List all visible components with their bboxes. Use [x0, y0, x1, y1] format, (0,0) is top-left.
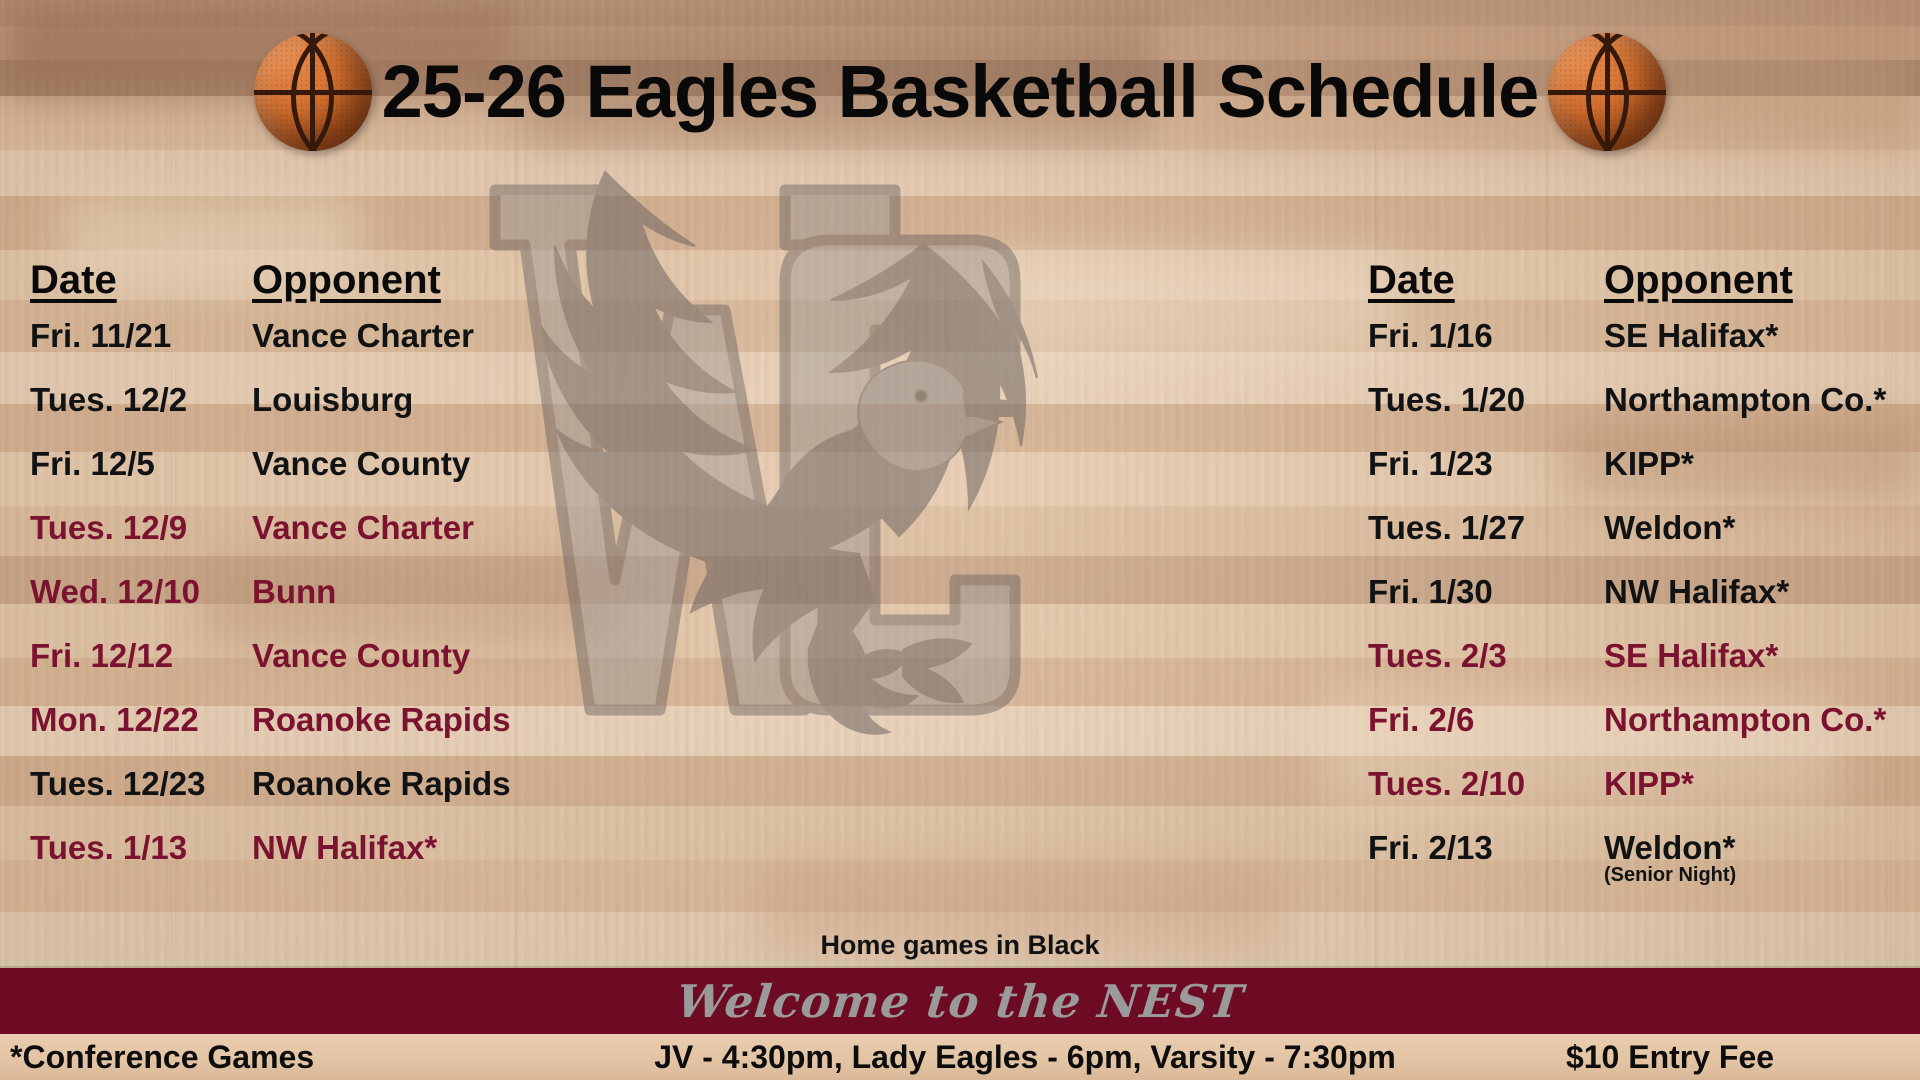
opponent-column-header: Opponent	[252, 258, 650, 303]
game-date: Fri. 12/12	[30, 639, 252, 674]
game-date: Tues. 1/20	[1368, 383, 1604, 418]
table-row: Tues. 12/2 Louisburg	[30, 383, 650, 447]
game-opponent: Northampton Co.*	[1604, 703, 1920, 738]
home-games-note: Home games in Black	[0, 930, 1920, 961]
schedule-column-left: Date Opponent Fri. 11/21 Vance Charter T…	[30, 258, 650, 895]
game-date: Mon. 12/22	[30, 703, 252, 738]
page-title-bar: 25-26 Eagles Basketball Schedule	[0, 22, 1920, 162]
table-row: Fri. 1/23 KIPP*	[1368, 447, 1920, 511]
game-opponent: Vance County	[252, 447, 650, 482]
senior-night-note: (Senior Night)	[1604, 864, 1920, 887]
game-date: Tues. 12/2	[30, 383, 252, 418]
date-column-header: Date	[1368, 258, 1604, 303]
footer-middle: JV - 4:30pm, Lady Eagles - 6pm, Varsity …	[630, 1039, 1420, 1076]
conference-games-note: *Conference Games	[10, 1039, 314, 1075]
game-opponent: SE Halifax*	[1604, 319, 1920, 354]
game-opponent: Northampton Co.*	[1604, 383, 1920, 418]
footer-bar: *Conference Games JV - 4:30pm, Lady Eagl…	[0, 1034, 1920, 1080]
basketball-icon-left	[254, 33, 372, 151]
game-date: Tues. 1/13	[30, 831, 252, 866]
schedule-header-right: Date Opponent	[1368, 258, 1920, 303]
schedule-header-left: Date Opponent	[30, 258, 650, 303]
game-opponent: SE Halifax*	[1604, 639, 1920, 674]
table-row: Tues. 1/27 Weldon*	[1368, 511, 1920, 575]
footer-right: $10 Entry Fee	[1420, 1039, 1920, 1076]
game-opponent: Weldon* (Senior Night)	[1604, 831, 1920, 887]
game-opponent: Weldon*	[1604, 511, 1920, 546]
game-opponent: KIPP*	[1604, 767, 1920, 802]
page-title: 25-26 Eagles Basketball Schedule	[382, 55, 1539, 129]
schedule-column-right: Date Opponent Fri. 1/16 SE Halifax* Tues…	[1368, 258, 1920, 895]
game-opponent: Vance Charter	[252, 319, 650, 354]
footer-left: *Conference Games	[0, 1039, 630, 1076]
game-opponent-name: Weldon*	[1604, 829, 1735, 866]
table-row: Tues. 1/13 NW Halifax*	[30, 831, 650, 895]
game-date: Tues. 12/9	[30, 511, 252, 546]
table-row: Fri. 1/30 NW Halifax*	[1368, 575, 1920, 639]
game-opponent: Vance County	[252, 639, 650, 674]
game-date: Fri. 11/21	[30, 319, 252, 354]
game-opponent: Roanoke Rapids	[252, 703, 650, 738]
game-date: Tues. 2/3	[1368, 639, 1604, 674]
game-opponent: Vance Charter	[252, 511, 650, 546]
game-opponent: NW Halifax*	[252, 831, 650, 866]
game-date: Tues. 12/23	[30, 767, 252, 802]
table-row: Wed. 12/10 Bunn	[30, 575, 650, 639]
game-date: Fri. 1/30	[1368, 575, 1604, 610]
entry-fee-note: $10 Entry Fee	[1566, 1039, 1774, 1075]
game-opponent: Louisburg	[252, 383, 650, 418]
game-date: Wed. 12/10	[30, 575, 252, 610]
nest-banner-text: Welcome to the NEST	[674, 975, 1246, 1028]
table-row: Tues. 1/20 Northampton Co.*	[1368, 383, 1920, 447]
opponent-column-header: Opponent	[1604, 258, 1920, 303]
table-row: Fri. 1/16 SE Halifax*	[1368, 319, 1920, 383]
game-opponent: NW Halifax*	[1604, 575, 1920, 610]
table-row: Fri. 2/6 Northampton Co.*	[1368, 703, 1920, 767]
game-date: Fri. 1/16	[1368, 319, 1604, 354]
game-date: Fri. 12/5	[30, 447, 252, 482]
game-opponent: KIPP*	[1604, 447, 1920, 482]
table-row: Fri. 2/13 Weldon* (Senior Night)	[1368, 831, 1920, 895]
game-opponent: Bunn	[252, 575, 650, 610]
table-row: Tues. 2/3 SE Halifax*	[1368, 639, 1920, 703]
table-row: Fri. 12/12 Vance County	[30, 639, 650, 703]
basketball-icon-right	[1548, 33, 1666, 151]
date-column-header: Date	[30, 258, 252, 303]
game-date: Tues. 2/10	[1368, 767, 1604, 802]
game-times-note: JV - 4:30pm, Lady Eagles - 6pm, Varsity …	[654, 1039, 1396, 1075]
table-row: Tues. 2/10 KIPP*	[1368, 767, 1920, 831]
game-opponent: Roanoke Rapids	[252, 767, 650, 802]
nest-banner: Welcome to the NEST	[0, 968, 1920, 1034]
game-date: Tues. 1/27	[1368, 511, 1604, 546]
table-row: Tues. 12/23 Roanoke Rapids	[30, 767, 650, 831]
table-row: Fri. 12/5 Vance County	[30, 447, 650, 511]
game-date: Fri. 2/6	[1368, 703, 1604, 738]
table-row: Fri. 11/21 Vance Charter	[30, 319, 650, 383]
game-date: Fri. 2/13	[1368, 831, 1604, 866]
table-row: Tues. 12/9 Vance Charter	[30, 511, 650, 575]
game-date: Fri. 1/23	[1368, 447, 1604, 482]
table-row: Mon. 12/22 Roanoke Rapids	[30, 703, 650, 767]
